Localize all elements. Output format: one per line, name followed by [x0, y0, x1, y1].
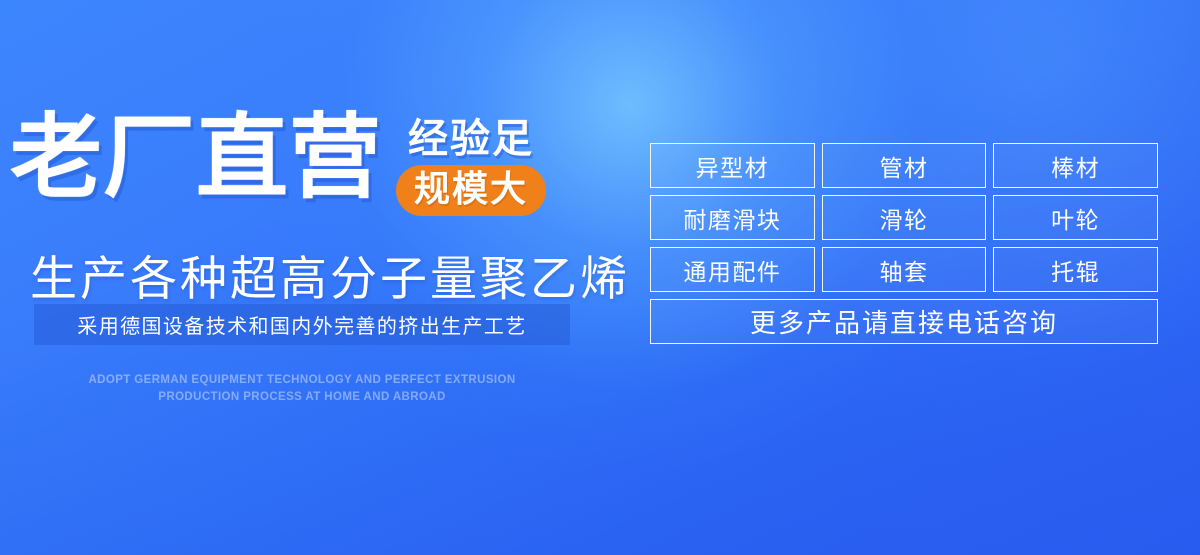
tagline-text: 采用德国设备技术和国内外完善的挤出生产工艺: [77, 310, 526, 339]
headline-text: 老厂直营: [10, 112, 382, 204]
product-grid-row-3: 通用配件 轴套 托辊: [650, 247, 1158, 292]
subheadline-text: 生产各种超高分子量聚乙烯: [30, 240, 630, 309]
product-cell-tuogun[interactable]: 托辊: [993, 247, 1158, 292]
product-cell-more-contact[interactable]: 更多产品请直接电话咨询: [650, 299, 1158, 344]
product-grid: 异型材 管材 棒材 耐磨滑块 滑轮 叶轮 通用配件 轴套 托辊 更多产品请直接电…: [650, 143, 1158, 344]
product-grid-row-2: 耐磨滑块 滑轮 叶轮: [650, 195, 1158, 240]
product-cell-naimohuakuai[interactable]: 耐磨滑块: [650, 195, 815, 240]
product-cell-yixingcai[interactable]: 异型材: [650, 143, 815, 188]
english-caption-line-2: PRODUCTION PROCESS AT HOME AND ABROAD: [34, 389, 570, 406]
product-cell-bangcai[interactable]: 棒材: [993, 143, 1158, 188]
product-cell-zhoutao[interactable]: 轴套: [822, 247, 987, 292]
tagline-band: 采用德国设备技术和国内外完善的挤出生产工艺: [34, 304, 570, 345]
badge-stack: 经验足 规模大: [396, 118, 546, 216]
badge-scale-pill: 规模大: [396, 165, 546, 216]
english-caption: ADOPT GERMAN EQUIPMENT TECHNOLOGY AND PE…: [34, 372, 570, 406]
headline-row: 老厂直营 经验足 规模大: [10, 112, 546, 216]
product-cell-guancai[interactable]: 管材: [822, 143, 987, 188]
product-cell-yelun[interactable]: 叶轮: [993, 195, 1158, 240]
promo-banner: 老厂直营 经验足 规模大 生产各种超高分子量聚乙烯 采用德国设备技术和国内外完善…: [0, 0, 1200, 555]
product-cell-tongyongpeijian[interactable]: 通用配件: [650, 247, 815, 292]
badge-experience-text: 经验足: [408, 118, 534, 161]
english-caption-line-1: ADOPT GERMAN EQUIPMENT TECHNOLOGY AND PE…: [34, 372, 570, 389]
banner-left-content: 老厂直营 经验足 规模大 生产各种超高分子量聚乙烯 采用德国设备技术和国内外完善…: [0, 0, 620, 555]
product-cell-hualun[interactable]: 滑轮: [822, 195, 987, 240]
product-grid-row-1: 异型材 管材 棒材: [650, 143, 1158, 188]
